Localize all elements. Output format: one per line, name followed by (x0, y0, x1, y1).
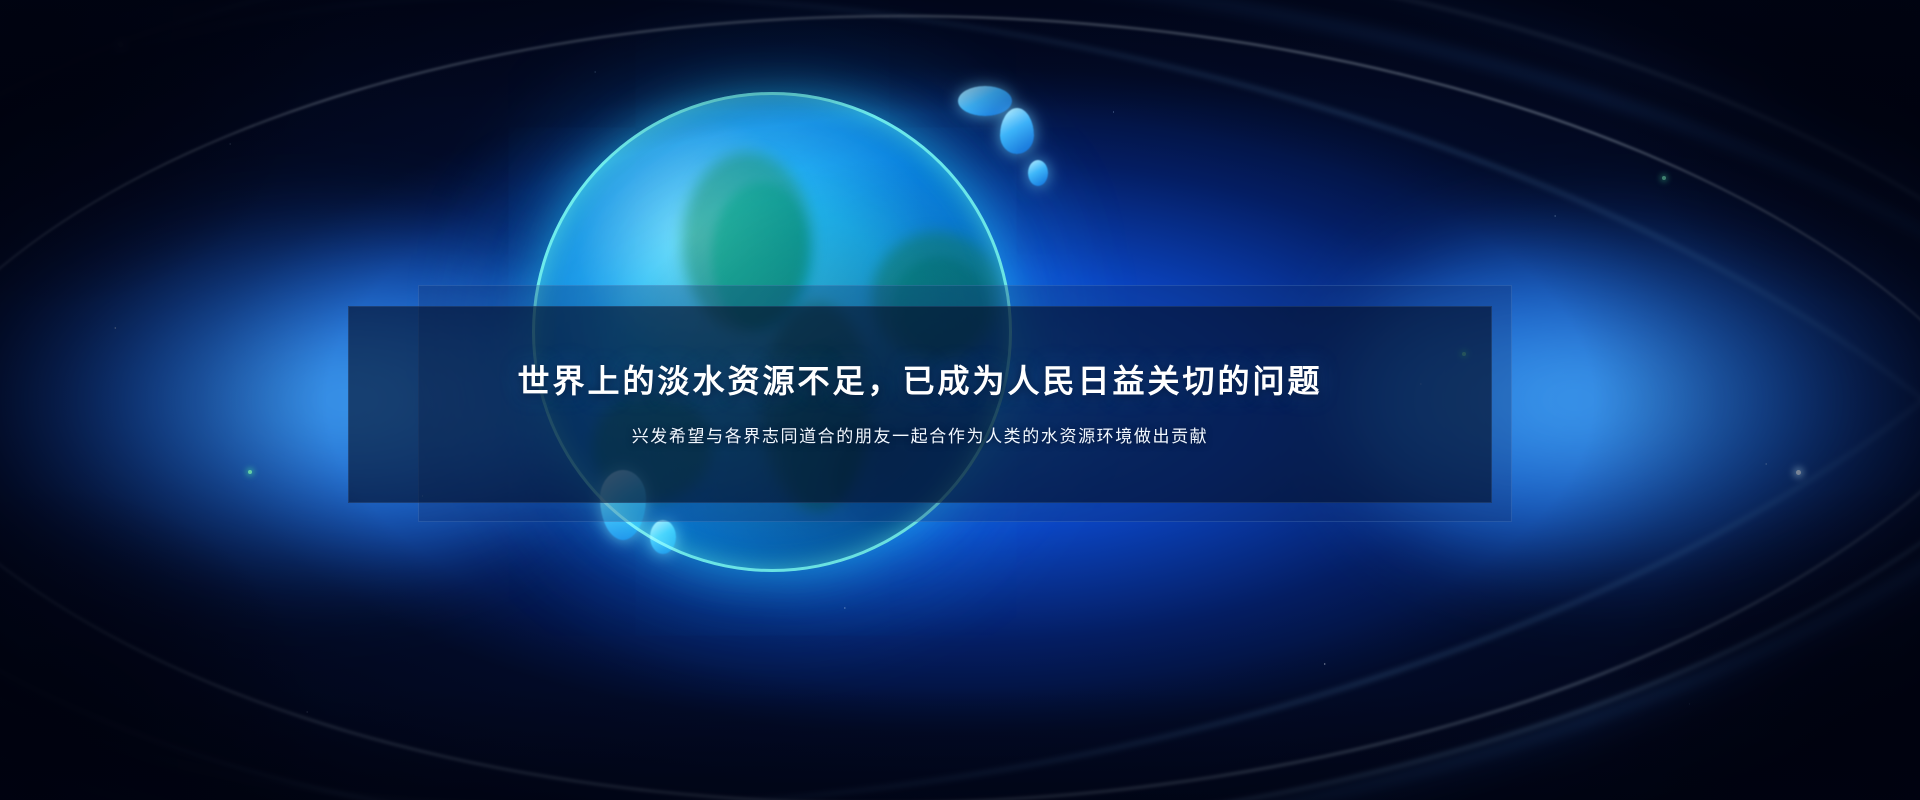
banner-subheadline: 兴发希望与各界志同道合的朋友一起合作为人类的水资源环境做出贡献 (632, 425, 1209, 449)
banner-headline: 世界上的淡水资源不足，已成为人民日益关切的问题 (517, 360, 1322, 403)
text-panel: 世界上的淡水资源不足，已成为人民日益关切的问题 兴发希望与各界志同道合的朋友一起… (348, 306, 1492, 503)
hero-banner: 世界上的淡水资源不足，已成为人民日益关切的问题 兴发希望与各界志同道合的朋友一起… (0, 0, 1920, 800)
